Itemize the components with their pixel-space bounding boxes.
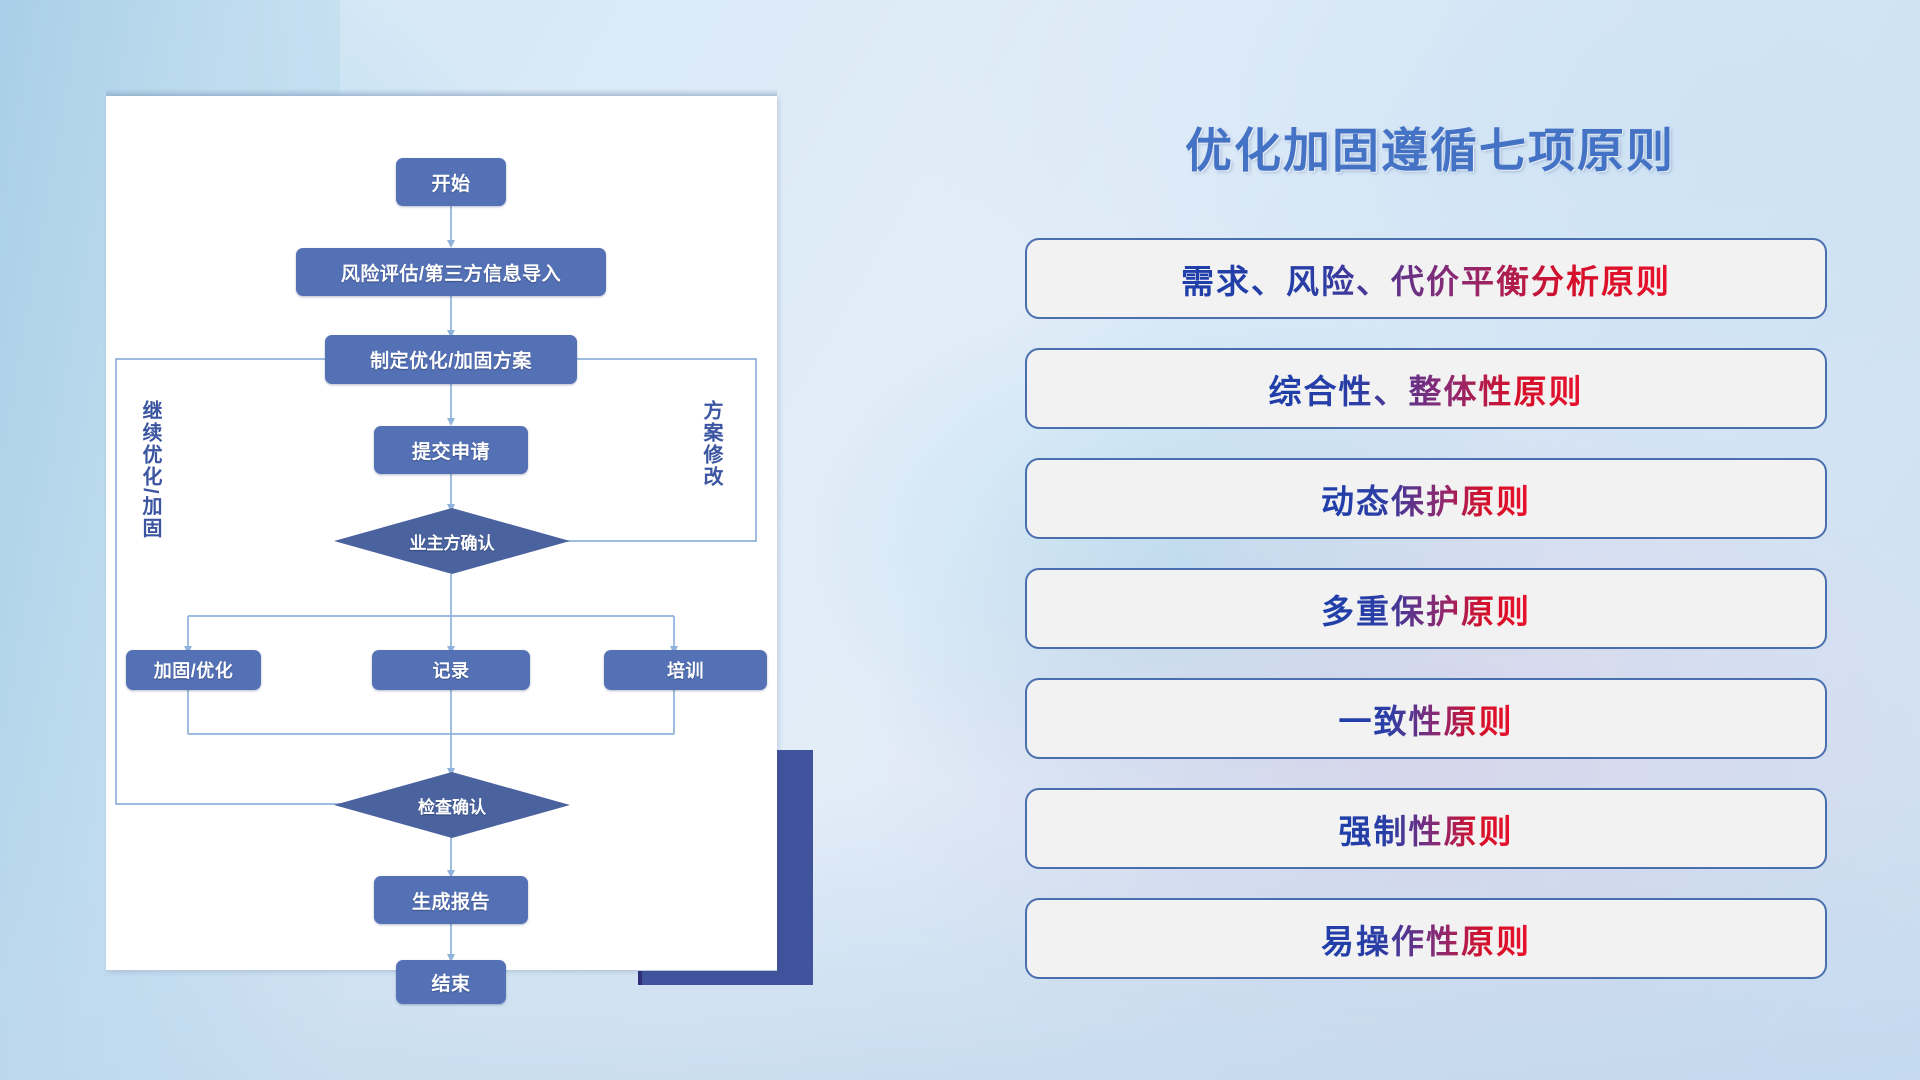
flow-node-label: 结束 (431, 969, 470, 996)
flow-node-end[interactable]: 结束 (396, 960, 506, 1004)
flow-node-record[interactable]: 记录 (372, 650, 530, 690)
flow-node-label: 检查确认 (418, 793, 486, 818)
principle-card-label: 一致性原则 (1339, 695, 1514, 743)
flow-node-plan[interactable]: 制定优化/加固方案 (325, 335, 577, 384)
flow-node-label: 开始 (431, 169, 470, 196)
flow-node-label: 风险评估/第三方信息导入 (341, 259, 561, 286)
flow-node-label: 提交申请 (412, 437, 490, 464)
flow-node-label: 生成报告 (412, 887, 490, 914)
flow-node-label: 记录 (433, 657, 470, 683)
flow-edge-label-plan-revision: 方案修改 (700, 400, 721, 488)
principle-card[interactable]: 易操作性原则 (1025, 898, 1827, 979)
flowchart-card: 开始 风险评估/第三方信息导入 制定优化/加固方案 提交申请 业主方确认 加固/… (106, 96, 777, 970)
panel-title: 优化加固遵循七项原则 (1020, 112, 1840, 181)
flow-node-start[interactable]: 开始 (396, 158, 506, 206)
principle-card[interactable]: 综合性、整体性原则 (1025, 348, 1827, 429)
flow-node-label: 业主方确认 (410, 529, 495, 554)
principle-card-label: 易操作性原则 (1321, 915, 1531, 963)
principle-card-label: 需求、风险、代价平衡分析原则 (1181, 255, 1671, 303)
principle-card-label: 强制性原则 (1339, 805, 1514, 853)
principle-card-label: 动态保护原则 (1321, 475, 1531, 523)
flow-node-risk-assessment[interactable]: 风险评估/第三方信息导入 (296, 248, 606, 296)
flow-edge-label-continue-optimize: 继续优化/加固 (139, 400, 160, 540)
principle-card-label: 多重保护原则 (1321, 585, 1531, 633)
flow-node-label: 培训 (667, 657, 704, 683)
flow-node-generate-report[interactable]: 生成报告 (374, 876, 528, 924)
principles-list: 需求、风险、代价平衡分析原则 综合性、整体性原则 动态保护原则 多重保护原则 一… (1025, 238, 1827, 1008)
flow-node-label: 制定优化/加固方案 (370, 346, 532, 373)
principle-card[interactable]: 一致性原则 (1025, 678, 1827, 759)
principle-card[interactable]: 多重保护原则 (1025, 568, 1827, 649)
slide-canvas: 开始 风险评估/第三方信息导入 制定优化/加固方案 提交申请 业主方确认 加固/… (0, 0, 1920, 1080)
flow-node-reinforce-optimize[interactable]: 加固/优化 (126, 650, 261, 690)
principles-panel: 优化加固遵循七项原则 需求、风险、代价平衡分析原则 综合性、整体性原则 动态保护… (1020, 0, 1840, 1080)
flow-node-submit-application[interactable]: 提交申请 (374, 426, 528, 474)
flow-node-training[interactable]: 培训 (604, 650, 767, 690)
principle-card[interactable]: 需求、风险、代价平衡分析原则 (1025, 238, 1827, 319)
principle-card[interactable]: 强制性原则 (1025, 788, 1827, 869)
principle-card[interactable]: 动态保护原则 (1025, 458, 1827, 539)
flow-node-label: 加固/优化 (154, 657, 234, 683)
principle-card-label: 综合性、整体性原则 (1269, 365, 1584, 413)
